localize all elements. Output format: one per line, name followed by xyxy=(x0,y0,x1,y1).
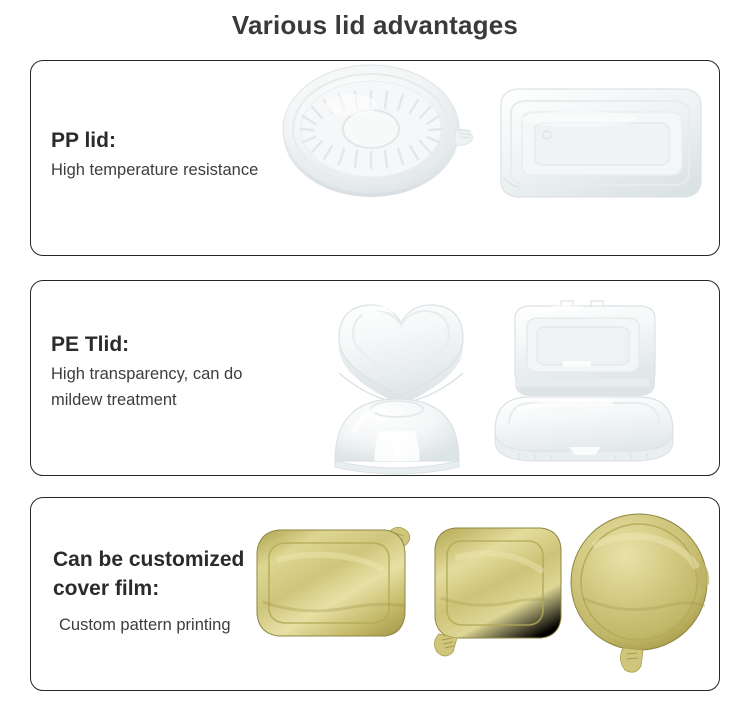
rectangular-gold-cover-film-graphic xyxy=(257,527,410,636)
round-pp-lid-graphic xyxy=(283,65,473,197)
square-pet-lid-graphic xyxy=(515,301,655,396)
panel-cover-film-heading-line1: Can be customized xyxy=(53,548,244,572)
rectangular-pp-lid-graphic xyxy=(501,89,701,197)
round-dome-pet-lid-graphic xyxy=(335,399,459,474)
panel-pp-lid: PP lid: High temperature resistance xyxy=(30,60,720,256)
panel-cover-film: Can be customized cover film: Custom pat… xyxy=(30,497,720,691)
panel-cover-film-images xyxy=(249,498,719,690)
panel-pp-lid-images xyxy=(279,61,719,255)
panel-pp-lid-text: PP lid: High temperature resistance xyxy=(51,129,258,184)
page-title: Various lid advantages xyxy=(0,10,750,41)
panel-pe-lid-description-line1: High transparency, can do xyxy=(51,362,242,388)
panel-cover-film-text: Can be customized cover film: Custom pat… xyxy=(53,548,244,638)
oval-pet-lid-graphic xyxy=(495,397,673,461)
panel-pe-lid-images xyxy=(319,281,719,475)
panel-pe-lid-description-line2: mildew treatment xyxy=(51,388,242,414)
round-gold-cover-film-graphic xyxy=(571,514,709,672)
square-gold-cover-film-graphic xyxy=(434,528,561,656)
panel-pe-lid-text: PE Tlid: High transparency, can do milde… xyxy=(51,333,242,413)
panel-pp-lid-heading: PP lid: xyxy=(51,129,258,153)
infographic-page: Various lid advantages PP lid: High temp… xyxy=(0,0,750,712)
panel-cover-film-description: Custom pattern printing xyxy=(53,607,244,639)
panel-cover-film-heading-line2: cover film: xyxy=(53,577,244,601)
panel-pe-lid-heading: PE Tlid: xyxy=(51,333,242,357)
panel-pp-lid-description: High temperature resistance xyxy=(51,158,258,184)
panel-pe-lid: PE Tlid: High transparency, can do milde… xyxy=(30,280,720,476)
heart-shaped-pet-lid-graphic xyxy=(339,305,463,405)
